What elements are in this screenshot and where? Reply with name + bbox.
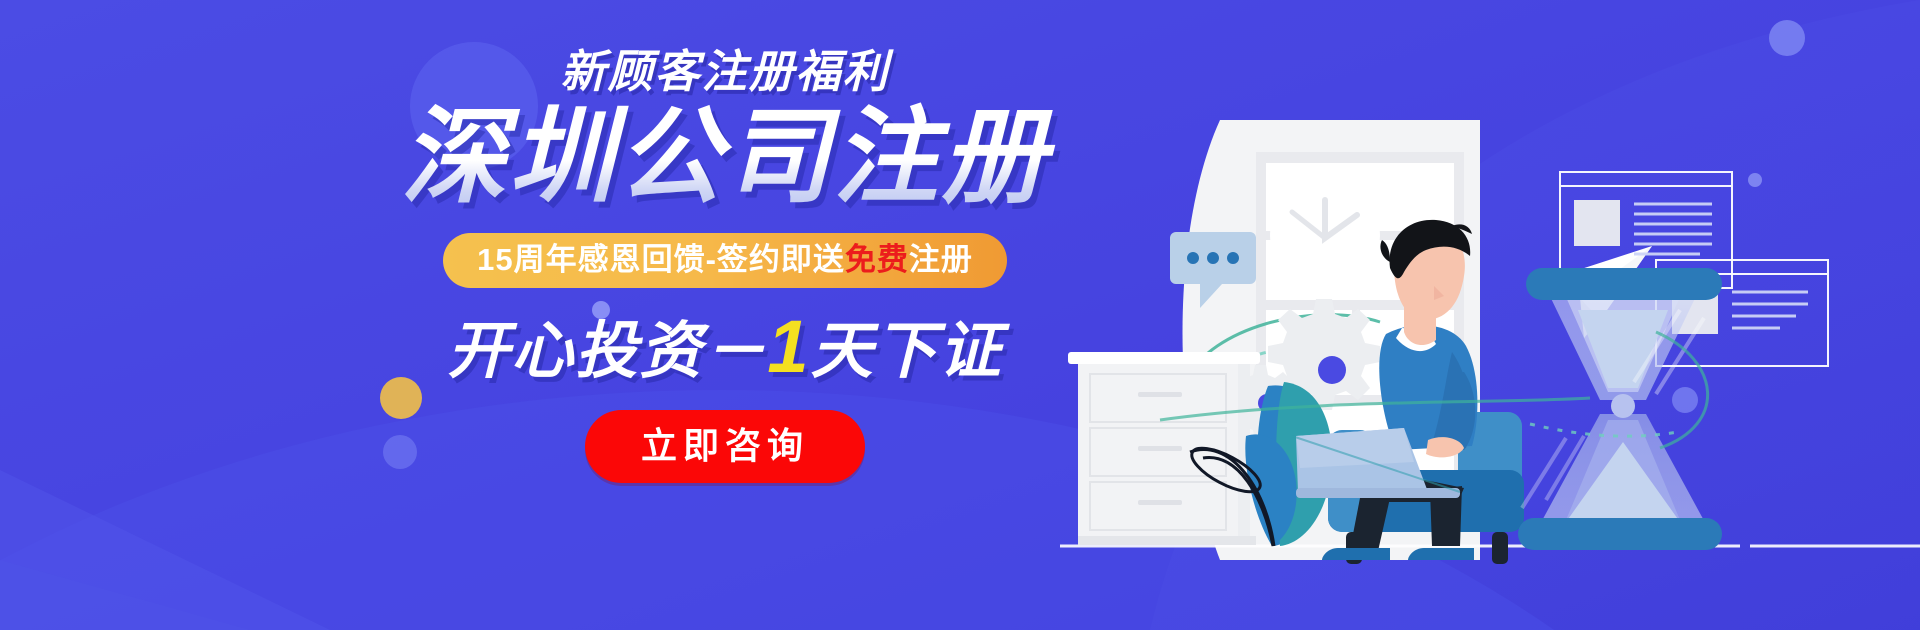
filing-cabinet bbox=[1068, 352, 1260, 545]
subline-number: 1 bbox=[767, 305, 810, 388]
promo-banner: 新顾客注册福利 深圳公司注册 15周年感恩回馈-签约即送免费注册 开心投资－1天… bbox=[0, 0, 1920, 630]
banner-copy: 新顾客注册福利 深圳公司注册 15周年感恩回馈-签约即送免费注册 开心投资－1天… bbox=[355, 48, 1095, 483]
badge-prefix: 15周年感恩回馈-签约即送 bbox=[477, 242, 845, 277]
promo-badge: 15周年感恩回馈-签约即送免费注册 bbox=[443, 233, 1007, 289]
badge-suffix: 注册 bbox=[909, 242, 973, 277]
hero-illustration bbox=[1060, 0, 1920, 630]
consult-now-button[interactable]: 立即咨询 bbox=[585, 410, 865, 484]
sub-headline: 开心投资－1天下证 bbox=[355, 306, 1095, 387]
kicker-text: 新顾客注册福利 bbox=[355, 48, 1095, 95]
page-title: 深圳公司注册 bbox=[355, 101, 1095, 214]
subline-suffix: 天下证 bbox=[811, 317, 1003, 386]
subline-prefix: 开心投资－ bbox=[447, 317, 767, 386]
clock-icon bbox=[1270, 180, 1380, 290]
badge-highlight: 免费 bbox=[845, 242, 909, 277]
